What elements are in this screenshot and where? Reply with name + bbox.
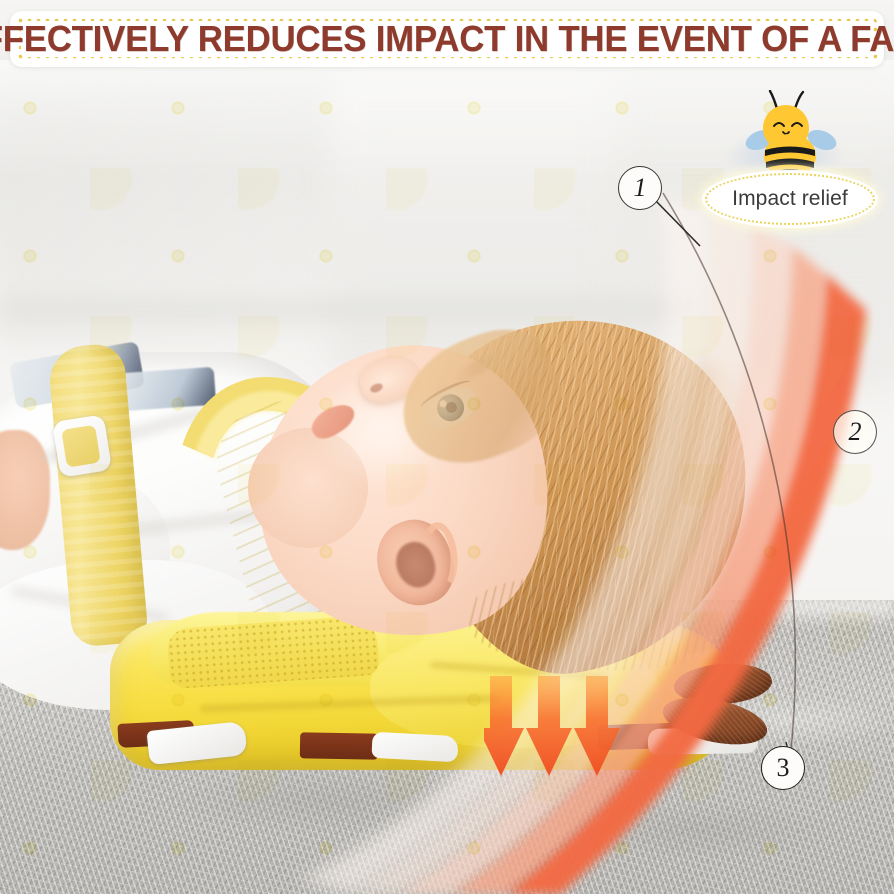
callout-marker-3[interactable]: 3	[761, 746, 805, 790]
callout-marker-3-number: 3	[777, 753, 790, 783]
pillow-white-trim	[371, 732, 458, 762]
headline-text: EFFECTIVELY REDUCES IMPACT IN THE EVENT …	[0, 21, 894, 57]
callout-marker-2[interactable]: 2	[833, 410, 877, 454]
downward-impact-arrows	[484, 676, 624, 786]
arrow-3	[574, 676, 620, 776]
impact-relief-label: Impact relief	[702, 170, 878, 228]
harness-velcro-buckle	[52, 414, 112, 477]
callout-marker-1[interactable]: 1	[618, 166, 662, 210]
bee-stripe	[300, 732, 378, 759]
impact-relief-badge: Impact relief	[700, 92, 880, 230]
baby-head	[250, 320, 730, 700]
harness-label-tag	[119, 367, 216, 412]
cartoon-bee-icon	[736, 90, 846, 182]
product-marketing-image: 1 2 3 Impact relief	[0, 0, 894, 894]
arrow-1	[484, 676, 524, 776]
headline-banner: EFFECTIVELY REDUCES IMPACT IN THE EVENT …	[10, 11, 884, 67]
arrow-2	[526, 676, 572, 776]
callout-marker-2-number: 2	[849, 417, 862, 447]
callout-marker-1-number: 1	[634, 173, 647, 203]
